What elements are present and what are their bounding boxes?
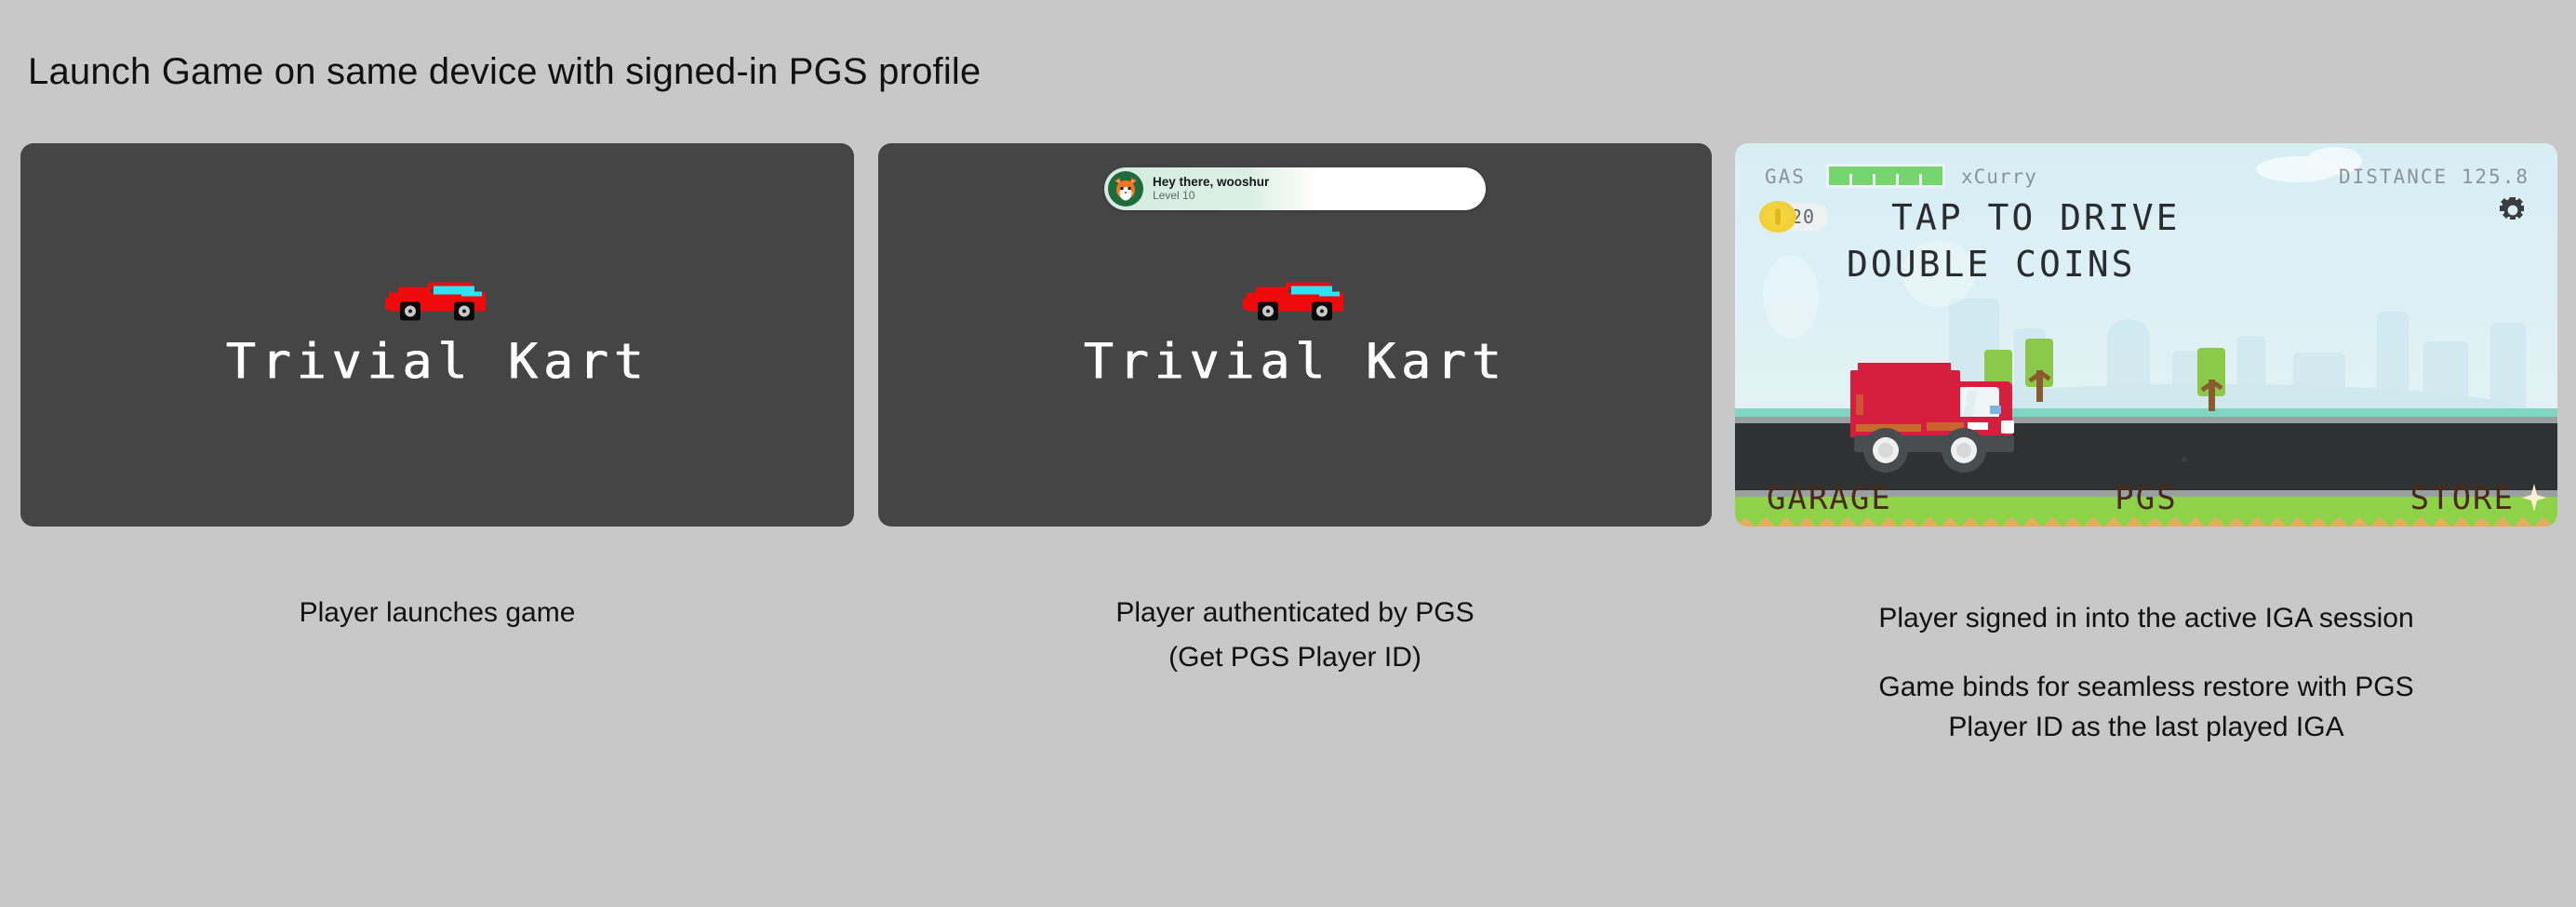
gear-icon[interactable]: [2498, 195, 2528, 225]
pixel-car-icon: [385, 280, 489, 321]
sparkle-icon: [2522, 484, 2546, 512]
gas-meter-fill: [1829, 167, 1942, 185]
pgs-welcome-banner[interactable]: Hey there, wooshur Level 10: [1104, 167, 1486, 210]
player-name-label: xCurry: [1961, 166, 2037, 188]
bottom-nav-bar: GARAGE PGS STORE: [1735, 471, 2557, 527]
caption-line: (Get PGS Player ID): [878, 637, 1712, 678]
fox-avatar-icon: [1108, 171, 1143, 207]
game-scene: GAS xCurry DISTANCE 125.8 20 TAP TO DRIV…: [1735, 143, 2557, 527]
game-splash-card-2[interactable]: Hey there, wooshur Level 10 Trivial Kart: [878, 143, 1712, 527]
caption-card-2: Player authenticated by PGS (Get PGS Pla…: [878, 593, 1712, 677]
nav-item-pgs[interactable]: PGS: [2115, 480, 2177, 517]
game-screen-card-3[interactable]: GAS xCurry DISTANCE 125.8 20 TAP TO DRIV…: [1735, 143, 2557, 527]
caption-line: Player authenticated by PGS: [878, 593, 1712, 634]
trivial-kart-splash: Trivial Kart: [20, 143, 854, 527]
page-title: Launch Game on same device with signed-i…: [28, 51, 981, 93]
trivial-kart-splash-authenticated: Hey there, wooshur Level 10 Trivial Kart: [878, 143, 1712, 527]
distance-label: DISTANCE 125.8: [2339, 166, 2529, 188]
double-coins-message: DOUBLE COINS: [1847, 244, 2136, 285]
coin-icon: [1759, 201, 1796, 233]
nav-item-garage[interactable]: GARAGE: [1767, 480, 1892, 517]
caption-line: Player launches game: [20, 593, 854, 634]
caption-line: Player signed in into the active IGA ses…: [1735, 598, 2557, 639]
pgs-level-text: Level 10: [1153, 190, 1269, 203]
gas-label: GAS: [1765, 166, 1806, 188]
game-title-text: Trivial Kart: [1084, 334, 1507, 391]
tap-to-drive-message: TAP TO DRIVE: [1891, 197, 2181, 238]
pixel-car-icon: [1243, 280, 1347, 321]
caption-card-3: Player signed in into the active IGA ses…: [1735, 598, 2557, 748]
kart-logo-group: Trivial Kart: [878, 280, 1712, 391]
game-title-text: Trivial Kart: [226, 334, 649, 391]
nav-item-store[interactable]: STORE: [2410, 480, 2515, 517]
diagram-canvas: Launch Game on same device with signed-i…: [0, 0, 2576, 907]
pgs-greeting-text: Hey there, wooshur: [1153, 175, 1269, 190]
player-truck-icon: [1849, 353, 2027, 458]
game-splash-card-1[interactable]: Trivial Kart: [20, 143, 854, 527]
kart-logo-group: Trivial Kart: [20, 280, 854, 391]
coin-counter: 20: [1759, 201, 1828, 233]
caption-card-1: Player launches game: [20, 593, 854, 634]
caption-line: Player ID as the last played IGA: [1735, 707, 2557, 748]
gas-meter: [1826, 164, 1945, 188]
pgs-banner-texts: Hey there, wooshur Level 10: [1153, 175, 1269, 203]
caption-line: Game binds for seamless restore with PGS: [1735, 667, 2557, 708]
